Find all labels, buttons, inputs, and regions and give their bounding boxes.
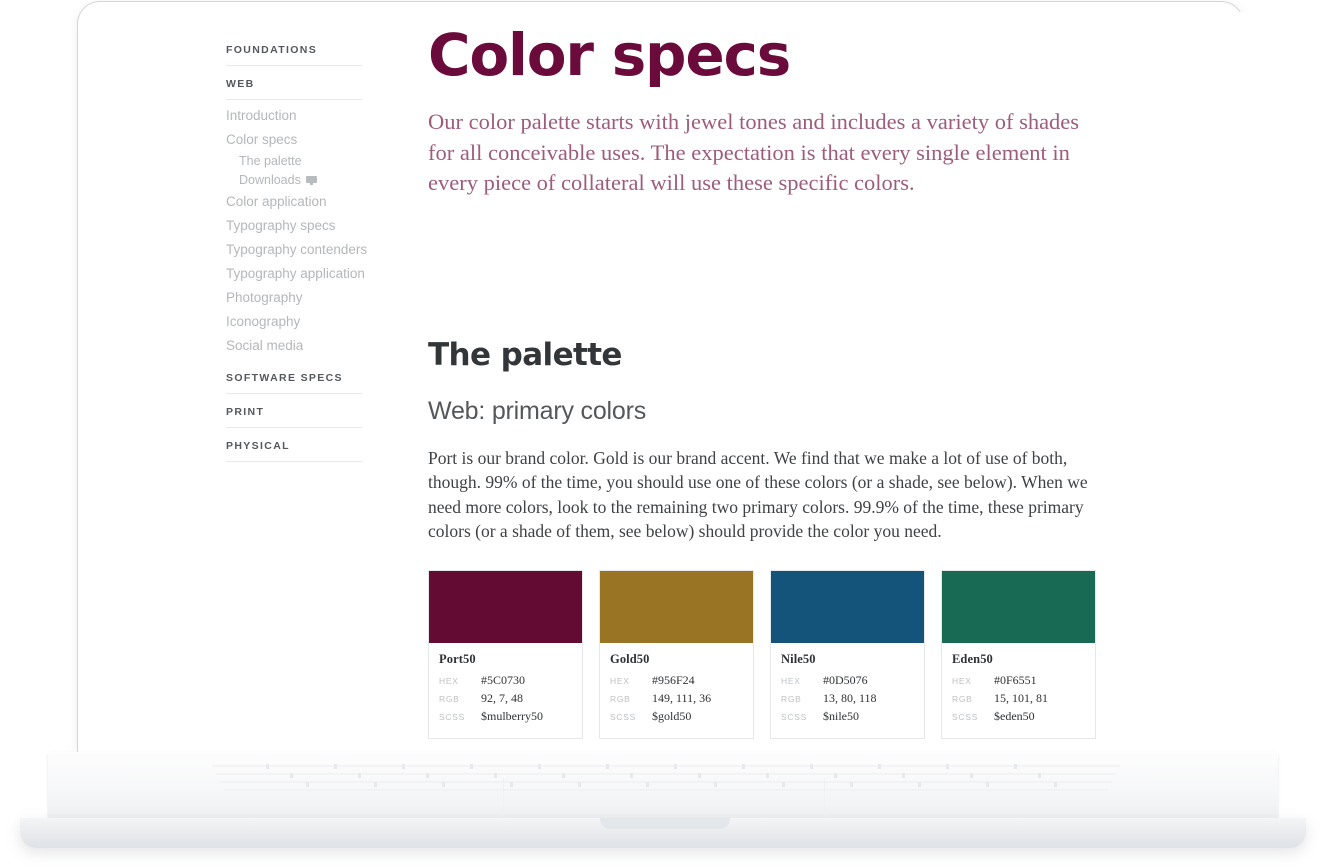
nav-section-title-physical[interactable]: PHYSICAL [226, 428, 362, 461]
color-spec-value-scss: $eden50 [994, 708, 1035, 725]
nav-list: IntroductionColor specsThe paletteDownlo… [226, 100, 362, 360]
color-spec-label-scss: SCSS [781, 709, 823, 726]
sidebar-item-typography-application[interactable]: Typography application [226, 262, 362, 286]
color-swatch-grid: Port50HEX#5C0730RGB92, 7, 48SCSS$mulberr… [428, 570, 1201, 739]
content-spacer [428, 199, 1201, 337]
color-spec-label-hex: HEX [439, 673, 481, 690]
sidebar-item-iconography[interactable]: Iconography [226, 310, 362, 334]
color-spec-value-scss: $gold50 [652, 708, 691, 725]
color-spec-label-rgb: RGB [610, 691, 652, 708]
color-spec-value-rgb: 13, 80, 118 [823, 690, 877, 707]
color-swatch-card[interactable]: Port50HEX#5C0730RGB92, 7, 48SCSS$mulberr… [428, 570, 583, 739]
sidebar-item-label: Typography specs [226, 218, 336, 233]
laptop-lid: FOUNDATIONSWEBIntroductionColor specsThe… [78, 2, 1243, 754]
sidebar-item-label: Iconography [226, 314, 300, 329]
sidebar-item-typography-specs[interactable]: Typography specs [226, 214, 362, 238]
color-spec-row-rgb: RGB13, 80, 118 [781, 690, 914, 708]
nav-section-title-software-specs[interactable]: SOFTWARE SPECS [226, 360, 362, 393]
color-spec-row-rgb: RGB149, 111, 36 [610, 690, 743, 708]
palette-body-copy: Port is our brand color. Gold is our bra… [428, 446, 1108, 544]
sidebar-item-typography-contenders[interactable]: Typography contenders [226, 238, 362, 262]
sidebar-item-color-application[interactable]: Color application [226, 190, 362, 214]
color-spec-label-scss: SCSS [610, 709, 652, 726]
sidebar-item-label: Introduction [226, 108, 297, 123]
sidebar-item-social-media[interactable]: Social media [226, 334, 362, 358]
color-spec-value-rgb: 15, 101, 81 [994, 690, 1048, 707]
color-swatch-card[interactable]: Eden50HEX#0F6551RGB15, 101, 81SCSS$eden5… [941, 570, 1096, 739]
color-spec-row-scss: SCSS$nile50 [781, 708, 914, 726]
nav-section-title-foundations[interactable]: FOUNDATIONS [226, 32, 362, 65]
intro-paragraph: Our color palette starts with jewel tone… [428, 107, 1100, 199]
color-swatch-meta: Port50HEX#5C0730RGB92, 7, 48SCSS$mulberr… [429, 643, 582, 738]
sidebar-item-label: Photography [226, 290, 303, 305]
sidebar-item-label: Social media [226, 338, 303, 353]
color-swatch-meta: Gold50HEX#956F24RGB149, 111, 36SCSS$gold… [600, 643, 753, 738]
color-spec-value-rgb: 92, 7, 48 [481, 690, 523, 707]
color-spec-row-hex: HEX#5C0730 [439, 672, 572, 690]
nav-section-title-web[interactable]: WEB [226, 66, 362, 99]
color-spec-row-hex: HEX#0D5076 [781, 672, 914, 690]
color-spec-value-rgb: 149, 111, 36 [652, 690, 711, 707]
color-spec-row-rgb: RGB92, 7, 48 [439, 690, 572, 708]
main-content: Color specs Our color palette starts wit… [388, 12, 1311, 754]
color-spec-value-scss: $mulberry50 [481, 708, 543, 725]
color-spec-label-rgb: RGB [781, 691, 823, 708]
sidebar-item-downloads[interactable]: Downloads [226, 171, 362, 190]
nav-divider [226, 461, 362, 462]
color-spec-label-rgb: RGB [439, 691, 481, 708]
sidebar-item-label: Color application [226, 194, 327, 209]
sidebar-item-label: Color specs [226, 132, 297, 147]
webpage: FOUNDATIONSWEBIntroductionColor specsThe… [166, 12, 1311, 754]
color-swatch-meta: Nile50HEX#0D5076RGB13, 80, 118SCSS$nile5… [771, 643, 924, 738]
color-spec-value-hex: #5C0730 [481, 672, 525, 689]
sidebar-item-color-specs[interactable]: Color specs [226, 128, 362, 152]
sidebar-item-label: The palette [239, 154, 302, 168]
color-spec-label-scss: SCSS [439, 709, 481, 726]
sidebar-item-label: Typography application [226, 266, 365, 281]
color-spec-row-hex: HEX#956F24 [610, 672, 743, 690]
color-chip[interactable] [771, 571, 924, 643]
color-spec-value-hex: #0F6551 [994, 672, 1037, 689]
sidebar-item-photography[interactable]: Photography [226, 286, 362, 310]
color-swatch-name: Nile50 [781, 652, 914, 667]
laptop-screen: FOUNDATIONSWEBIntroductionColor specsThe… [166, 12, 1311, 754]
color-spec-label-hex: HEX [952, 673, 994, 690]
color-spec-label-hex: HEX [781, 673, 823, 690]
nav-section-title-print[interactable]: PRINT [226, 394, 362, 427]
laptop-base [48, 752, 1278, 824]
color-swatch-name: Port50 [439, 652, 572, 667]
color-swatch-card[interactable]: Gold50HEX#956F24RGB149, 111, 36SCSS$gold… [599, 570, 754, 739]
color-swatch-card[interactable]: Nile50HEX#0D5076RGB13, 80, 118SCSS$nile5… [770, 570, 925, 739]
color-spec-label-hex: HEX [610, 673, 652, 690]
sidebar-item-the-palette[interactable]: The palette [226, 152, 362, 171]
color-spec-label-rgb: RGB [952, 691, 994, 708]
color-spec-row-scss: SCSS$mulberry50 [439, 708, 572, 726]
color-spec-row-rgb: RGB15, 101, 81 [952, 690, 1085, 708]
color-spec-value-scss: $nile50 [823, 708, 859, 725]
color-spec-row-scss: SCSS$gold50 [610, 708, 743, 726]
color-chip[interactable] [600, 571, 753, 643]
color-spec-label-scss: SCSS [952, 709, 994, 726]
monitor-icon [306, 176, 317, 185]
sidebar-item-introduction[interactable]: Introduction [226, 104, 362, 128]
color-spec-row-hex: HEX#0F6551 [952, 672, 1085, 690]
color-spec-row-scss: SCSS$eden50 [952, 708, 1085, 726]
color-chip[interactable] [429, 571, 582, 643]
page-title: Color specs [428, 26, 1201, 85]
color-swatch-name: Gold50 [610, 652, 743, 667]
laptop-notch [600, 818, 730, 829]
sidebar-navigation: FOUNDATIONSWEBIntroductionColor specsThe… [166, 12, 388, 754]
sidebar-item-label: Downloads [239, 173, 301, 187]
color-swatch-name: Eden50 [952, 652, 1085, 667]
sidebar-item-label: Typography contenders [226, 242, 367, 257]
laptop-mockup: FOUNDATIONSWEBIntroductionColor specsThe… [0, 0, 1325, 866]
color-spec-value-hex: #956F24 [652, 672, 695, 689]
color-swatch-meta: Eden50HEX#0F6551RGB15, 101, 81SCSS$eden5… [942, 643, 1095, 738]
section-heading-the-palette: The palette [428, 337, 1201, 373]
color-chip[interactable] [942, 571, 1095, 643]
color-spec-value-hex: #0D5076 [823, 672, 868, 689]
keyboard-keys-icon [206, 762, 1126, 798]
subsection-heading-web-primary-colors: Web: primary colors [428, 397, 1201, 426]
